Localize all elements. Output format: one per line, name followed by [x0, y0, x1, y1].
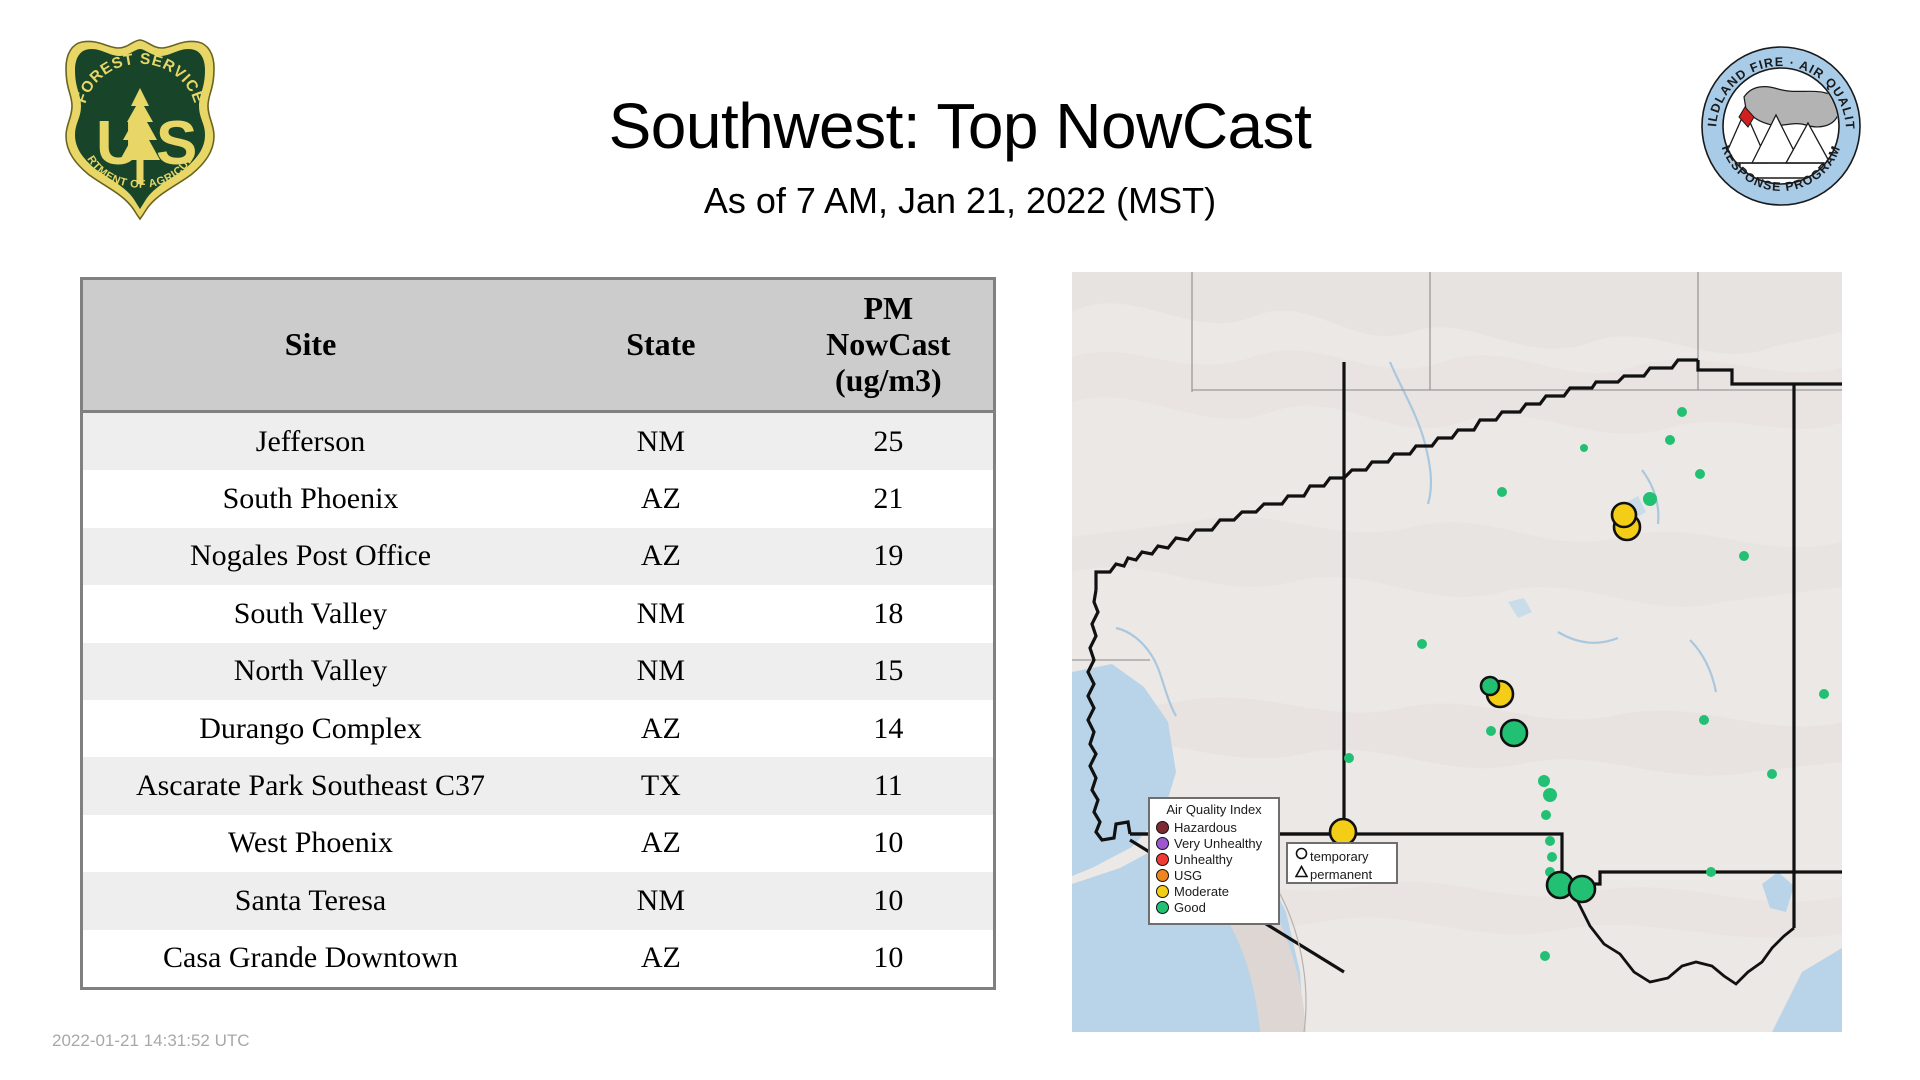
cell-state: NM	[538, 643, 784, 700]
legend-row-temporary: temporary	[1293, 847, 1391, 865]
cell-state: TX	[538, 757, 784, 814]
cell-value: 10	[784, 815, 993, 872]
cell-site: Ascarate Park Southeast C37	[83, 757, 538, 814]
monitor-point[interactable]	[1547, 852, 1557, 862]
cell-state: AZ	[538, 700, 784, 757]
aqi-swatch-icon	[1156, 901, 1169, 914]
monitor-point[interactable]	[1739, 551, 1749, 561]
site-type-legend: temporary permanent	[1286, 842, 1398, 884]
cell-state: AZ	[538, 930, 784, 987]
cell-site: South Valley	[83, 585, 538, 642]
monitor-point[interactable]	[1344, 753, 1354, 763]
aqi-swatch-icon	[1156, 869, 1169, 882]
cell-value: 10	[784, 930, 993, 987]
monitor-point[interactable]	[1580, 444, 1588, 452]
column-header-state: State	[538, 280, 784, 412]
triangle-icon	[1293, 865, 1310, 883]
aqi-swatch-icon	[1156, 885, 1169, 898]
table-row: Nogales Post OfficeAZ19	[83, 528, 993, 585]
cell-state: AZ	[538, 815, 784, 872]
nowcast-table: Site State PM NowCast (ug/m3) JeffersonN…	[83, 280, 993, 987]
cell-value: 14	[784, 700, 993, 757]
cell-site: Durango Complex	[83, 700, 538, 757]
cell-value: 15	[784, 643, 993, 700]
table-row: Casa Grande DowntownAZ10	[83, 930, 993, 987]
wfaqrp-logo: WILDLAND FIRE · AIR QUALITY RESPONSE PRO…	[1700, 45, 1862, 207]
aqi-legend-row: USG	[1156, 867, 1272, 883]
aqi-legend-label: USG	[1174, 869, 1202, 882]
cell-value: 18	[784, 585, 993, 642]
cell-state: AZ	[538, 528, 784, 585]
monitor-point[interactable]	[1497, 487, 1507, 497]
column-header-pm-line1: PM	[784, 291, 993, 327]
aqi-legend-row: Good	[1156, 899, 1272, 915]
table-row: Ascarate Park Southeast C37TX11	[83, 757, 993, 814]
aqi-swatch-icon	[1156, 853, 1169, 866]
monitor-point[interactable]	[1481, 677, 1499, 695]
footer-timestamp: 2022-01-21 14:31:52 UTC	[52, 1031, 250, 1051]
table-row: South PhoenixAZ21	[83, 470, 993, 527]
cell-value: 10	[784, 872, 993, 929]
aqi-swatch-icon	[1156, 837, 1169, 850]
aqi-legend-label: Unhealthy	[1174, 853, 1233, 866]
monitor-point[interactable]	[1665, 435, 1675, 445]
cell-state: NM	[538, 872, 784, 929]
cell-state: NM	[538, 412, 784, 471]
cell-value: 19	[784, 528, 993, 585]
table-row: Santa TeresaNM10	[83, 872, 993, 929]
cell-site: Jefferson	[83, 412, 538, 471]
monitor-point[interactable]	[1612, 503, 1636, 527]
table-header-row: Site State PM NowCast (ug/m3)	[83, 280, 993, 412]
aqi-legend-title: Air Quality Index	[1156, 803, 1272, 817]
aqi-legend-label: Hazardous	[1174, 821, 1237, 834]
legend-row-permanent: permanent	[1293, 865, 1391, 883]
air-quality-map[interactable]: Air Quality Index HazardousVery Unhealth…	[1072, 272, 1842, 1032]
monitor-point[interactable]	[1677, 407, 1687, 417]
column-header-pm-line3: (ug/m3)	[784, 363, 993, 399]
column-header-site: Site	[83, 280, 538, 412]
aqi-legend-row: Very Unhealthy	[1156, 835, 1272, 851]
monitor-point[interactable]	[1501, 720, 1527, 746]
nowcast-table-panel: Site State PM NowCast (ug/m3) JeffersonN…	[80, 277, 996, 990]
column-header-pm-line2: NowCast	[784, 327, 993, 363]
monitor-point[interactable]	[1486, 726, 1496, 736]
aqi-legend-label: Good	[1174, 901, 1206, 914]
table-row: North ValleyNM15	[83, 643, 993, 700]
monitor-point[interactable]	[1706, 867, 1716, 877]
aqi-swatch-icon	[1156, 821, 1169, 834]
monitor-point[interactable]	[1569, 876, 1595, 902]
cell-state: AZ	[538, 470, 784, 527]
table-row: Durango ComplexAZ14	[83, 700, 993, 757]
table-row: JeffersonNM25	[83, 412, 993, 471]
aqi-legend-row: Moderate	[1156, 883, 1272, 899]
cell-value: 11	[784, 757, 993, 814]
monitor-point[interactable]	[1541, 810, 1551, 820]
monitor-point[interactable]	[1417, 639, 1427, 649]
aqi-legend-row: Unhealthy	[1156, 851, 1272, 867]
monitor-point[interactable]	[1643, 492, 1657, 506]
aqi-legend-label: Moderate	[1174, 885, 1229, 898]
column-header-pm-nowcast: PM NowCast (ug/m3)	[784, 280, 993, 412]
legend-label-permanent: permanent	[1310, 868, 1372, 881]
cell-site: South Phoenix	[83, 470, 538, 527]
cell-site: Santa Teresa	[83, 872, 538, 929]
table-row: West PhoenixAZ10	[83, 815, 993, 872]
monitor-point[interactable]	[1540, 951, 1550, 961]
cell-value: 25	[784, 412, 993, 471]
cell-value: 21	[784, 470, 993, 527]
page-header: FOREST SERVICE DEPARTMENT OF AGRICULTURE…	[0, 0, 1920, 260]
monitor-point[interactable]	[1699, 715, 1709, 725]
cell-site: Nogales Post Office	[83, 528, 538, 585]
monitor-point[interactable]	[1543, 788, 1557, 802]
cell-site: North Valley	[83, 643, 538, 700]
aqi-legend-row: Hazardous	[1156, 819, 1272, 835]
cell-site: West Phoenix	[83, 815, 538, 872]
page-title: Southwest: Top NowCast	[0, 89, 1920, 163]
monitor-point[interactable]	[1767, 769, 1777, 779]
monitor-point[interactable]	[1545, 836, 1555, 846]
monitor-point[interactable]	[1695, 469, 1705, 479]
monitor-point[interactable]	[1538, 775, 1550, 787]
legend-label-temporary: temporary	[1310, 850, 1369, 863]
page-subtitle: As of 7 AM, Jan 21, 2022 (MST)	[0, 180, 1920, 222]
cell-site: Casa Grande Downtown	[83, 930, 538, 987]
circle-icon	[1293, 847, 1310, 865]
table-row: South ValleyNM18	[83, 585, 993, 642]
monitor-point[interactable]	[1819, 689, 1829, 699]
aqi-legend-label: Very Unhealthy	[1174, 837, 1262, 850]
aqi-legend: Air Quality Index HazardousVery Unhealth…	[1148, 797, 1280, 925]
cell-state: NM	[538, 585, 784, 642]
